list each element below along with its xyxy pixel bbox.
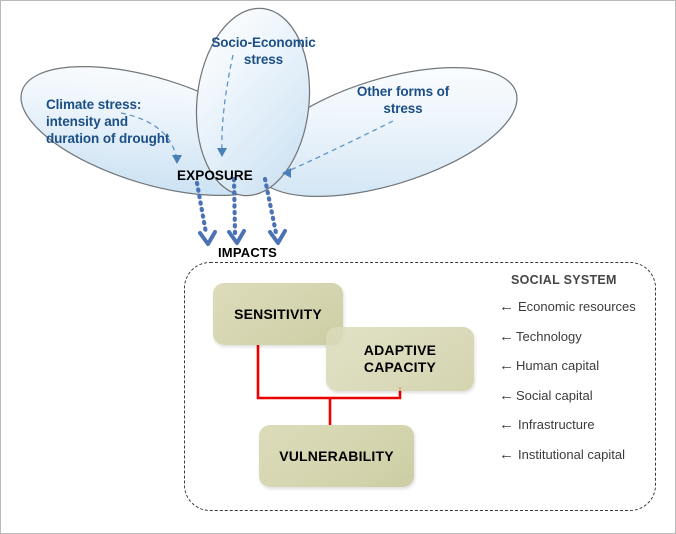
list-item-label: Human capital bbox=[516, 358, 599, 373]
label-other-forms-of-stress: Other forms of stress bbox=[351, 83, 455, 117]
list-item: ←Human capital bbox=[499, 358, 651, 374]
label-climate-stress: Climate stress: intensity and duration o… bbox=[46, 96, 169, 147]
left-arrow-icon: ← bbox=[499, 416, 514, 433]
list-item: ←Social capital bbox=[499, 388, 651, 404]
left-arrow-icon: ← bbox=[499, 357, 514, 374]
social-system-list: ←Economic resources ←Technology ←Human c… bbox=[499, 299, 651, 476]
list-item: ←Technology bbox=[499, 329, 651, 345]
left-arrow-icon: ← bbox=[499, 328, 514, 345]
left-arrow-icon: ← bbox=[499, 298, 514, 315]
label-exposure: EXPOSURE bbox=[177, 168, 253, 183]
box-adaptive-capacity[interactable]: ADAPTIVE CAPACITY bbox=[326, 327, 474, 391]
diagram-canvas: Climate stress: intensity and duration o… bbox=[0, 0, 676, 534]
list-item-label: Social capital bbox=[516, 388, 593, 403]
list-item-label: Infrastructure bbox=[518, 417, 595, 432]
list-item-label: Institutional capital bbox=[518, 447, 625, 462]
list-item: ←Institutional capital bbox=[499, 447, 651, 463]
list-item-label: Technology bbox=[516, 329, 582, 344]
label-impacts: IMPACTS bbox=[218, 245, 277, 260]
exposure-to-impacts-arrowheads bbox=[200, 231, 285, 244]
left-arrow-icon: ← bbox=[499, 446, 514, 463]
left-arrow-icon: ← bbox=[499, 387, 514, 404]
box-sensitivity[interactable]: SENSITIVITY bbox=[213, 283, 343, 345]
label-socio-economic-stress: Socio-Economic stress bbox=[206, 34, 321, 68]
list-item: ←Economic resources bbox=[499, 299, 651, 315]
list-item: ←Infrastructure bbox=[499, 417, 651, 433]
box-vulnerability[interactable]: VULNERABILITY bbox=[259, 425, 414, 487]
social-system-heading: SOCIAL SYSTEM bbox=[511, 273, 617, 287]
list-item-label: Economic resources bbox=[518, 299, 636, 314]
